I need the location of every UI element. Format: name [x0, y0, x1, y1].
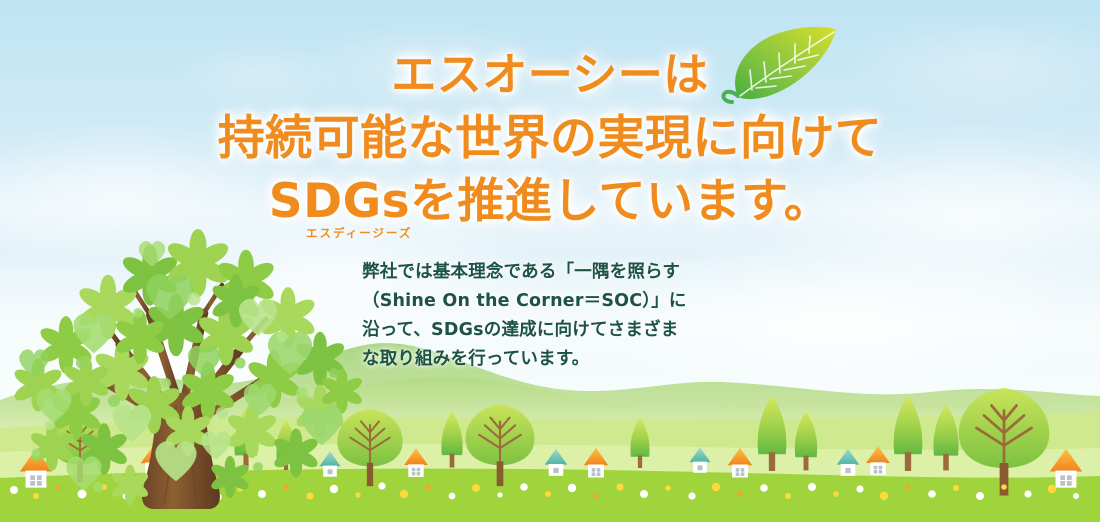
body-copy-line-4: な取り組みを行っています。: [362, 345, 722, 374]
heart-leaf-tree: [0, 195, 370, 522]
headline-line-1: エスオーシーは: [0, 52, 1100, 97]
headline-line-3: SDGsを推進しています。: [0, 178, 1100, 225]
body-copy-line-3: 沿って、SDGsの達成に向けてさまざま: [362, 316, 722, 345]
sdgs-banner: エスオーシーは 持続可能な世界の実現に向けて SDGsを推進しています。 エスデ…: [0, 0, 1100, 522]
body-copy: 弊社では基本理念である「一隅を照らす （Shine On the Corner＝…: [362, 258, 722, 374]
body-copy-line-1: 弊社では基本理念である「一隅を照らす: [362, 258, 722, 287]
body-copy-line-2: （Shine On the Corner＝SOC）」に: [362, 287, 722, 316]
sdgs-ruby-text: エスディージーズ: [306, 225, 412, 241]
headline-line-2: 持続可能な世界の実現に向けて: [0, 115, 1100, 162]
